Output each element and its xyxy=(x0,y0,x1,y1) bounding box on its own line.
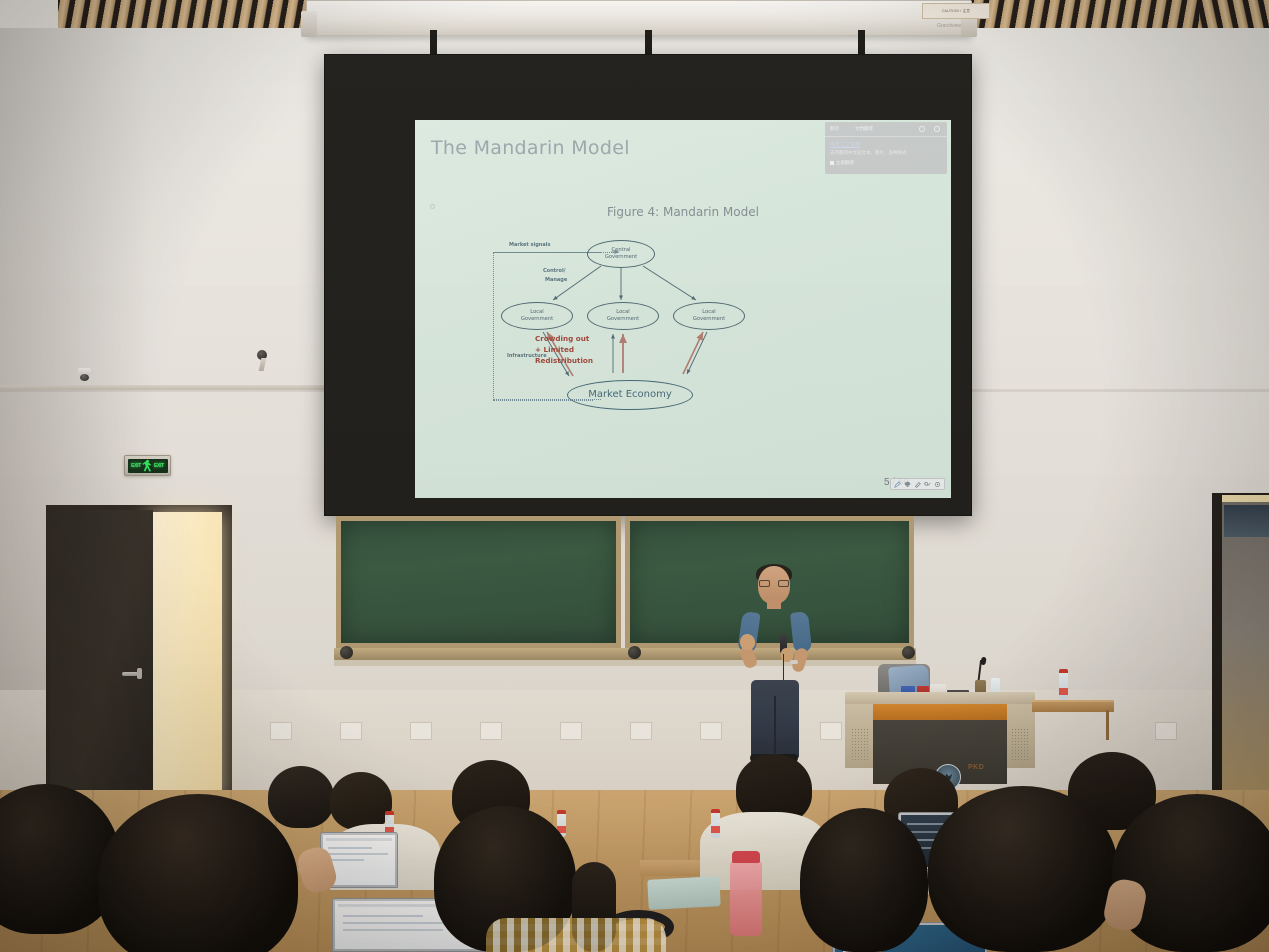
label-crowding-out: Crowding out xyxy=(535,334,589,343)
lectern-orange-band xyxy=(873,704,1007,720)
node-local1-line1: Local xyxy=(530,309,543,316)
door-right-top-light xyxy=(1222,495,1269,502)
node-central-line2: Government xyxy=(605,254,637,261)
node-central-line1: Central xyxy=(612,247,631,254)
running-man-icon xyxy=(142,460,153,472)
door-right-shelf xyxy=(1224,505,1269,537)
gear-icon[interactable] xyxy=(919,126,925,132)
label-control-manage-1: Control/ xyxy=(543,268,566,275)
wall-socket xyxy=(340,722,362,740)
label-redistribution: Redistribution xyxy=(535,356,593,365)
close-icon[interactable] xyxy=(934,126,940,132)
shapes-icon[interactable] xyxy=(924,481,931,488)
mandarin-model-diagram: Market signals Control/ Manage Infrastru… xyxy=(491,240,791,415)
settings-icon[interactable] xyxy=(934,481,941,488)
board-roller-knob-right[interactable] xyxy=(902,646,915,659)
pen-icon[interactable] xyxy=(894,481,901,488)
node-local-government-1: Local Government xyxy=(501,302,573,330)
student-checkered-shirt xyxy=(486,918,666,952)
exit-sign: EXIT EXIT xyxy=(124,455,171,476)
exit-sign-label-right: EXIT xyxy=(154,463,164,469)
sport-bottle-cap xyxy=(732,851,760,863)
security-camera-bullet xyxy=(257,350,267,360)
student-head xyxy=(330,772,392,830)
label-control-manage-2: Manage xyxy=(545,277,567,284)
caution-label: CAUTION / 注意 xyxy=(922,3,990,19)
lecture-hall-photo: EXIT EXIT CAUTION / 注意 Grandview The Man… xyxy=(0,0,1269,952)
note-icon[interactable] xyxy=(914,481,921,488)
exit-sign-label-left: EXIT xyxy=(131,463,141,469)
presentation-slide: The Mandarin Model Figure 4: Mandarin Mo… xyxy=(415,120,951,498)
wall-socket xyxy=(560,722,582,740)
chalk-ledge xyxy=(334,660,916,666)
projection-screen: The Mandarin Model Figure 4: Mandarin Mo… xyxy=(324,54,972,516)
label-market-signals: Market signals xyxy=(509,242,550,249)
bottle-cap-icon xyxy=(711,809,720,813)
side-table xyxy=(1032,702,1114,712)
translation-popup-panel[interactable]: 翻译 文档翻译 ··· 点击ここ文档 支持翻译中文段文本，图片，多种格式 立即翻… xyxy=(825,122,947,174)
door-right-interior xyxy=(1222,500,1269,790)
projected-image-area: The Mandarin Model Figure 4: Mandarin Mo… xyxy=(415,120,951,498)
presenter xyxy=(738,566,812,766)
board-roller-knob-mid[interactable] xyxy=(628,646,641,659)
notebook xyxy=(647,876,720,910)
node-central-government: Central Government xyxy=(587,240,655,268)
popup-header: 翻译 文档翻译 ··· xyxy=(825,122,947,137)
door-handle[interactable] xyxy=(122,672,138,676)
chalkboard xyxy=(336,516,914,666)
node-local-government-2: Local Government xyxy=(587,302,659,330)
node-local2-line2: Government xyxy=(607,316,639,323)
node-local3-line2: Government xyxy=(693,316,725,323)
node-local2-line1: Local xyxy=(616,309,629,316)
wall-socket xyxy=(270,722,292,740)
board-roller-knob-left[interactable] xyxy=(340,646,353,659)
popup-button-label: 立即翻译 xyxy=(836,160,854,165)
student-head-foreground xyxy=(928,786,1118,952)
wristwatch xyxy=(790,660,798,664)
popup-button-square-icon xyxy=(830,161,834,165)
node-market-label: Market Economy xyxy=(588,388,672,402)
side-table-leg xyxy=(1106,710,1109,740)
label-limited: + Limited xyxy=(535,345,574,354)
node-market-economy: Market Economy xyxy=(567,380,693,410)
eyeglasses-icon xyxy=(759,580,789,587)
student-head-foreground xyxy=(98,794,298,952)
bottle-label xyxy=(1059,688,1068,695)
bottle-cap-icon xyxy=(385,811,394,815)
wall-socket xyxy=(410,722,432,740)
wall-socket xyxy=(820,722,842,740)
presenter-leg-split xyxy=(774,696,776,758)
projector-brand-label: Grandview xyxy=(937,23,961,29)
wall-rail xyxy=(0,385,330,390)
security-camera-dome xyxy=(78,368,91,377)
popup-link[interactable]: 点击ここ文档 xyxy=(830,141,860,148)
projector-screen-housing: CAUTION / 注意 Grandview xyxy=(306,0,972,36)
popup-translate-button[interactable]: 立即翻译 xyxy=(830,160,854,166)
door-lock-icon[interactable] xyxy=(137,668,142,679)
chalkboard-panel-left xyxy=(336,516,621,648)
node-local-government-3: Local Government xyxy=(673,302,745,330)
node-local1-line2: Government xyxy=(521,316,553,323)
popup-tab-document-translate[interactable]: 文档翻译 xyxy=(855,126,873,132)
wall-socket xyxy=(700,722,722,740)
presenter-right-sleeve xyxy=(790,611,812,653)
wall-socket xyxy=(480,722,502,740)
student-head xyxy=(268,766,334,828)
popup-subtitle: 支持翻译中文段文本，图片，多种格式 xyxy=(830,150,907,156)
pink-sport-bottle xyxy=(730,860,762,936)
audience-rows xyxy=(0,750,1269,952)
water-bottle-audience xyxy=(711,812,720,838)
popup-more-dots[interactable]: ··· xyxy=(895,126,903,131)
chalk-tray xyxy=(334,648,916,660)
slide-title: The Mandarin Model xyxy=(431,137,630,159)
wall-socket xyxy=(630,722,652,740)
student-head-foreground xyxy=(800,808,928,952)
bottle-label xyxy=(711,826,720,833)
popup-tab-translate[interactable]: 翻译 xyxy=(830,126,839,132)
node-local3-line1: Local xyxy=(702,309,715,316)
figure-caption: Figure 4: Mandarin Model xyxy=(415,205,951,219)
pdf-floating-toolbar[interactable] xyxy=(890,478,945,490)
water-bottle-side-table xyxy=(1059,672,1068,700)
student-head-foreground xyxy=(1112,794,1269,952)
highlight-icon[interactable] xyxy=(904,481,911,488)
bottle-cap-icon xyxy=(557,810,566,814)
wall-socket xyxy=(1155,722,1177,740)
bottle-cap-icon xyxy=(1059,669,1068,673)
